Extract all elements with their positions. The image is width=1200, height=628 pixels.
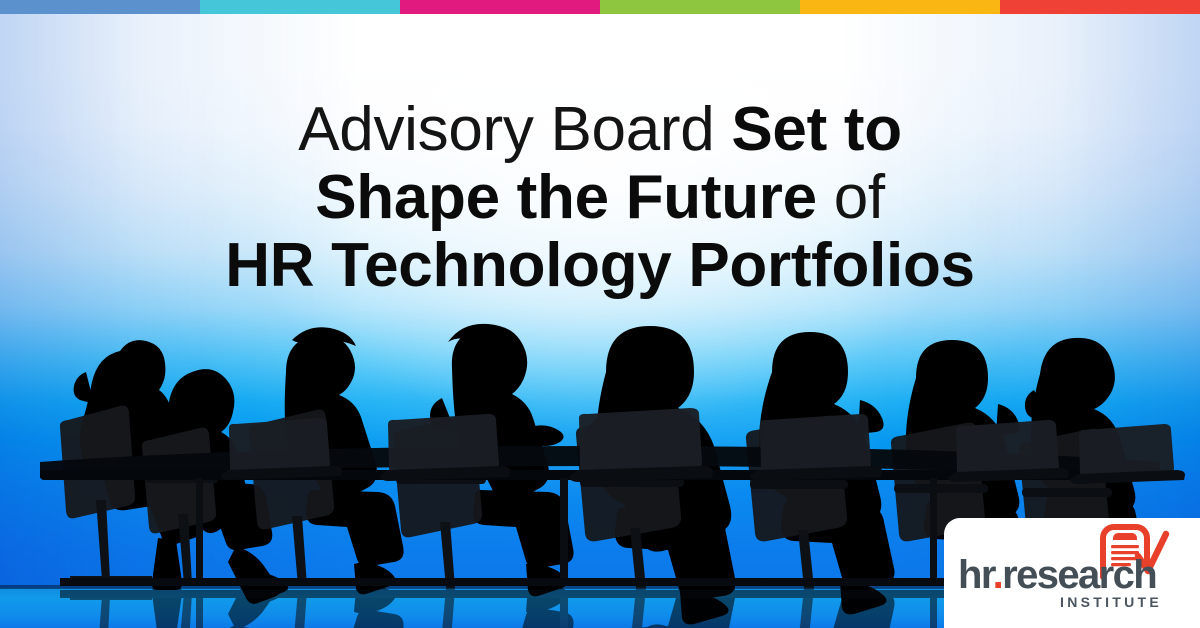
logo-card[interactable]: hr.research INSTITUTE bbox=[944, 518, 1200, 628]
headline-line-2-bold: Shape the Future bbox=[315, 163, 834, 232]
top-color-strip bbox=[0, 0, 1200, 14]
color-segment-teal bbox=[200, 0, 400, 14]
headline: Advisory Board Set to Shape the Future o… bbox=[0, 96, 1200, 300]
headline-line-1-bold: Set to bbox=[731, 95, 901, 164]
headline-line-2-light: of bbox=[834, 163, 885, 232]
headline-line-2: Shape the Future of bbox=[0, 164, 1200, 232]
color-segment-pink bbox=[400, 0, 600, 14]
logo-inner: hr.research INSTITUTE bbox=[944, 518, 1200, 628]
logo-subtitle: INSTITUTE bbox=[1060, 594, 1192, 610]
logo-word-dot: . bbox=[993, 553, 1003, 597]
headline-line-3-bold: HR Technology Portfolios bbox=[225, 231, 974, 300]
color-segment-orange bbox=[800, 0, 1000, 14]
logo-word-research: research bbox=[1002, 553, 1156, 597]
color-segment-green bbox=[600, 0, 800, 14]
promo-banner: Advisory Board Set to Shape the Future o… bbox=[0, 0, 1200, 628]
headline-line-3: HR Technology Portfolios bbox=[0, 232, 1200, 300]
color-segment-blue bbox=[0, 0, 200, 14]
logo-wordmark: hr.research bbox=[958, 554, 1190, 596]
logo-word-hr: hr bbox=[958, 553, 993, 597]
headline-line-1: Advisory Board Set to bbox=[0, 96, 1200, 164]
color-segment-red bbox=[1000, 0, 1200, 14]
headline-line-1-light: Advisory Board bbox=[298, 95, 731, 164]
